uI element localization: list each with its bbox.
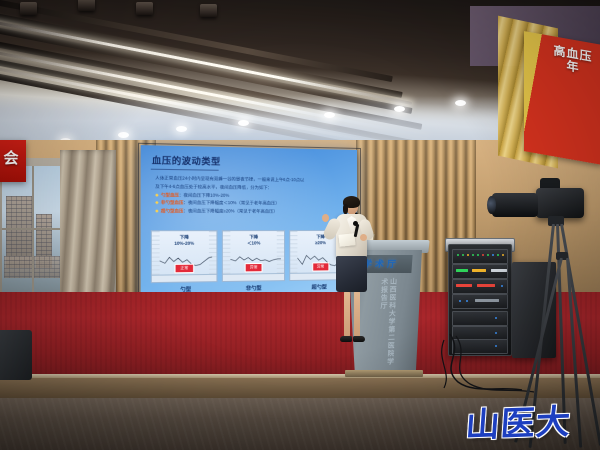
rack-unit[interactable]	[452, 279, 508, 294]
downlight	[394, 106, 405, 112]
banner-right: 高血压 年	[524, 31, 600, 165]
downlight	[455, 100, 466, 106]
speaker-right-leg	[354, 290, 360, 338]
downlight	[176, 126, 187, 132]
rack-unit[interactable]	[452, 249, 508, 264]
speaker-right-shoe	[353, 336, 365, 342]
rack-unit[interactable]	[452, 294, 508, 309]
podium-base	[345, 370, 423, 377]
banner-left: 会	[0, 140, 26, 182]
conference-hall-photo: 高血压 年 会 血压的波动类型 人体正常血压24小时内呈现有双峰一谷的昼夜节律，…	[0, 0, 600, 450]
broadcast-camera-body	[536, 188, 584, 218]
rack-unit[interactable]	[452, 311, 508, 326]
speaker-skirt	[336, 256, 367, 292]
watermark-logo: 山医大	[464, 394, 573, 447]
speaker-left-shoe	[340, 336, 352, 342]
camera-lens	[492, 193, 538, 217]
downlight	[118, 132, 129, 138]
downlight	[238, 120, 249, 126]
banner-left-text: 会	[0, 140, 26, 167]
speaker-left-hand	[322, 214, 329, 222]
speaker-right-hand	[360, 234, 367, 241]
podium-vertical-text: 山西医科大学第二医院学术报告厅	[363, 278, 396, 374]
chair	[0, 330, 32, 380]
rack-unit[interactable]	[452, 264, 508, 279]
speaker-left-leg	[344, 290, 350, 338]
downlight	[324, 112, 335, 118]
speaker-hair-side	[343, 204, 348, 214]
window-mullion	[32, 166, 34, 296]
